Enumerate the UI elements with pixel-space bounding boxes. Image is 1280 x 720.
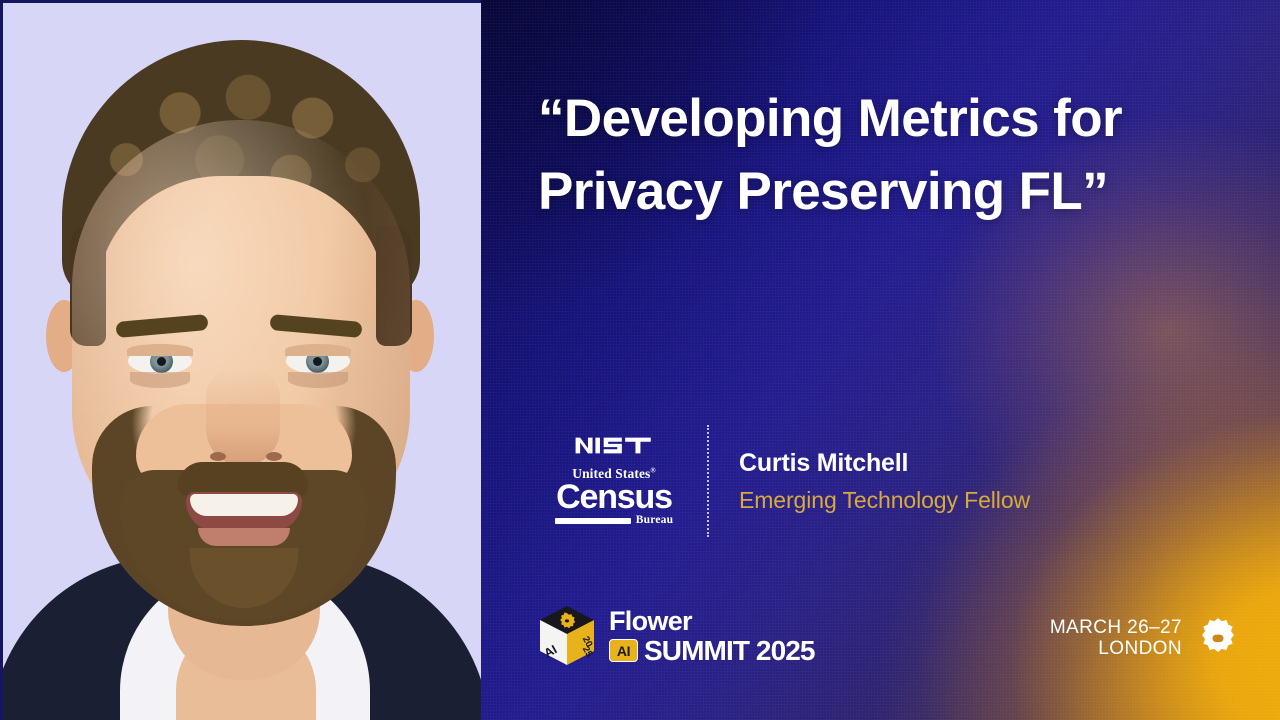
pupil-right (313, 357, 322, 366)
census-line2: Bureau (636, 515, 673, 527)
speaker-photo (0, 0, 481, 720)
organization-logos: United States® Census Bureau (539, 436, 689, 526)
slide-title: “Developing Metrics for Privacy Preservi… (538, 82, 1228, 228)
vertical-divider (707, 425, 709, 537)
flower-summit-logo: 20 25 AI Flower AI SUMMIT 2025 (537, 604, 815, 668)
presentation-slide: “Developing Metrics for Privacy Preservi… (0, 0, 1280, 720)
summit-row: AI SUMMIT 2025 (609, 637, 815, 665)
event-city: LONDON (1098, 638, 1182, 659)
portrait-illustration (0, 0, 481, 720)
speaker-block: United States® Census Bureau Curtis Mitc… (539, 425, 1030, 537)
teeth (190, 494, 298, 516)
summit-wordmark: Flower AI SUMMIT 2025 (609, 608, 815, 665)
nostril-left (210, 452, 226, 461)
event-meta: MARCH 26–27 LONDON (1050, 616, 1240, 660)
lower-lip (198, 528, 290, 546)
photo-edge-top (0, 0, 481, 3)
registered-mark: ® (650, 467, 655, 475)
flower-icon (1196, 616, 1240, 660)
event-date-location: MARCH 26–27 LONDON (1050, 617, 1182, 660)
census-underline (555, 518, 631, 524)
speaker-details: Curtis Mitchell Emerging Technology Fell… (739, 449, 1030, 514)
summit-word: SUMMIT 2025 (644, 637, 815, 665)
content-panel: “Developing Metrics for Privacy Preservi… (481, 0, 1280, 720)
census-bottom-row: Bureau (555, 515, 673, 527)
pupil-left (157, 357, 166, 366)
nostril-right (266, 452, 282, 461)
moustache (178, 462, 308, 496)
census-bureau-logo: United States® Census Bureau (555, 467, 673, 526)
eyelid-right (285, 344, 351, 356)
census-wordmark: Census (556, 480, 672, 514)
flower-word: Flower (609, 608, 815, 635)
mouth (186, 492, 302, 532)
undereye-left (130, 372, 190, 388)
eyelid-left (127, 344, 193, 356)
speaker-name: Curtis Mitchell (739, 449, 1030, 478)
speaker-role: Emerging Technology Fellow (739, 487, 1030, 514)
flower-cube-icon: 20 25 AI (537, 604, 597, 668)
photo-edge-left (0, 0, 3, 720)
event-dates: MARCH 26–27 (1050, 617, 1182, 638)
undereye-right (288, 372, 348, 388)
nist-logo (574, 436, 654, 455)
ai-badge: AI (609, 639, 638, 662)
